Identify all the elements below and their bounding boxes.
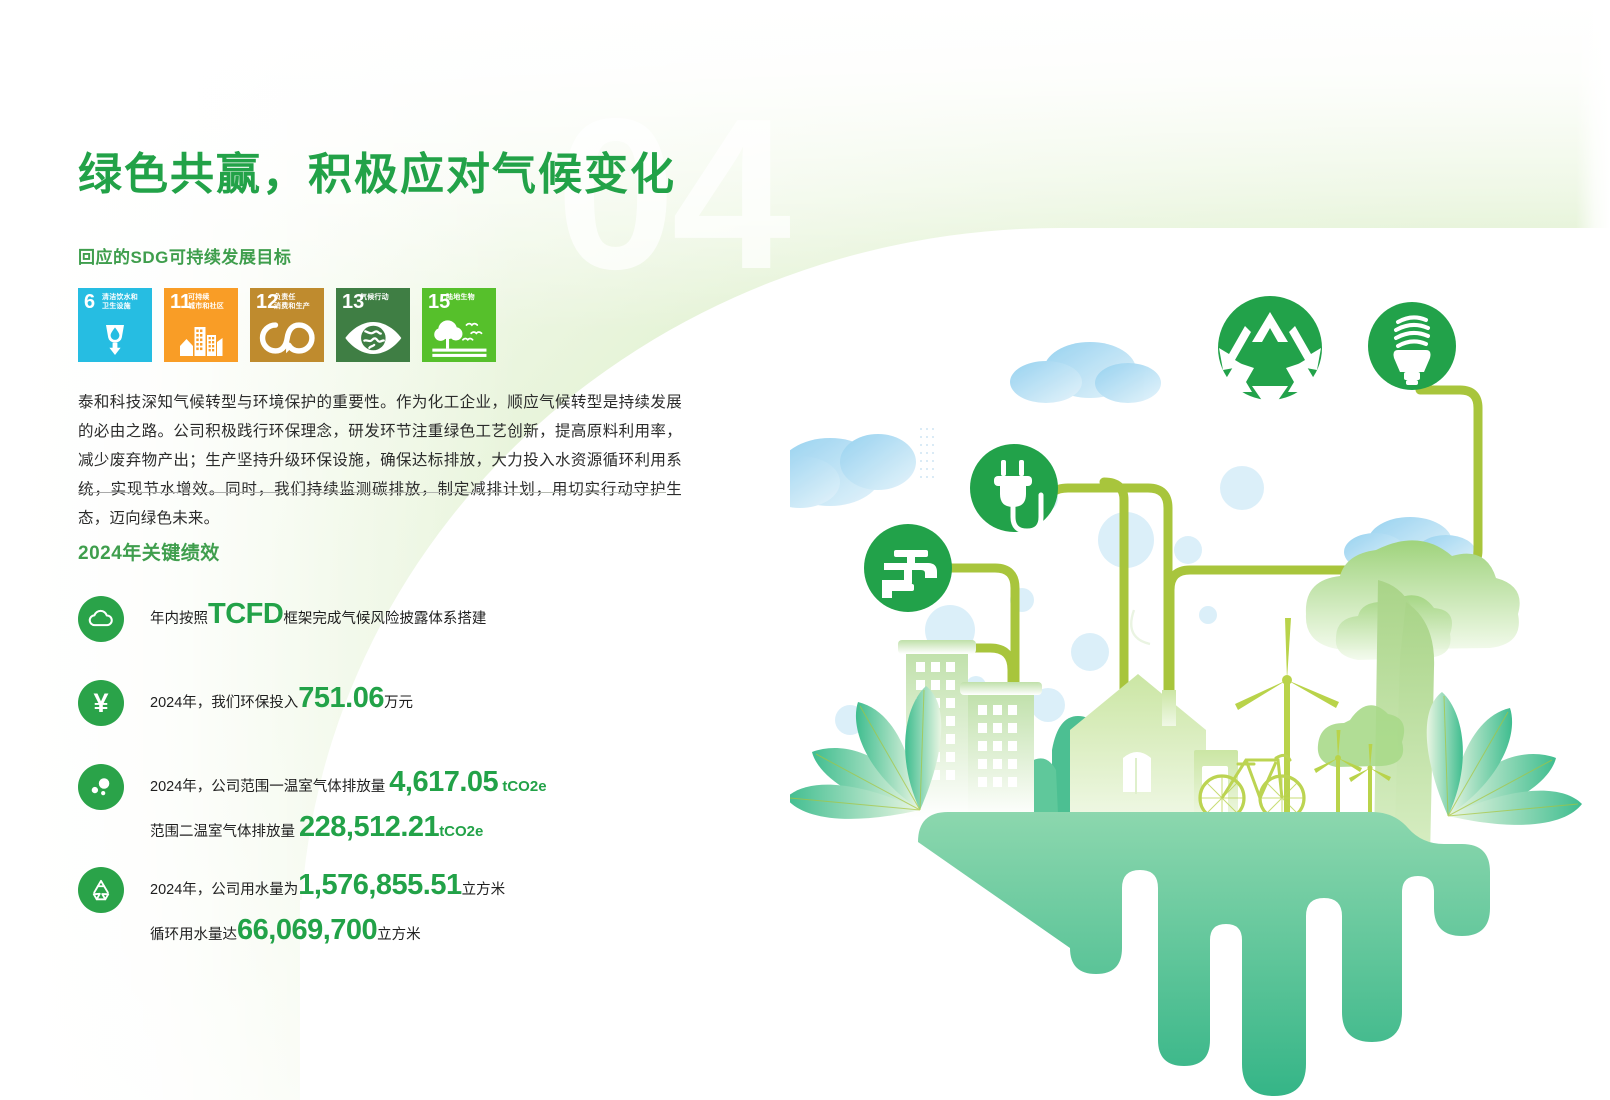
city-buildings-icon — [164, 318, 238, 358]
report-page: 04 绿色共赢，积极应对气候变化 回应的SDG可持续发展目标 6 清洁饮水和 卫… — [0, 0, 1610, 1100]
kpi-unit-text: tCO2e — [439, 823, 483, 840]
kpi-text-block: 2024年，我们环保投入751.06万元 — [150, 680, 638, 715]
kpi-prefix: 年内按照 — [150, 611, 208, 627]
kpi-unit: 立方米 — [462, 882, 506, 898]
cloud-icon — [78, 596, 124, 642]
kpi-item-ghg: 2024年，公司范围一温室气体排放量 4,617.05 tCO2e 范围二温室气… — [78, 764, 638, 845]
kpi-line: 2024年，公司用水量为1,576,855.51立方米 — [150, 869, 638, 902]
kpi-item-investment: ¥ 2024年，我们环保投入751.06万元 — [78, 680, 638, 742]
kpi-line: 范围二温室气体排放量 228,512.21tCO2e — [150, 811, 638, 844]
yen-icon: ¥ — [78, 680, 124, 726]
eco-illustration — [790, 250, 1610, 1100]
kpi-value: 4,617.05 — [389, 766, 498, 798]
kpi-prefix: 2024年，我们环保投入 — [150, 695, 298, 711]
badge-faucet[interactable] — [864, 524, 952, 612]
kpi-line: 2024年，我们环保投入751.06万元 — [150, 682, 638, 715]
badge-plug[interactable] — [970, 444, 1058, 532]
section-divider — [78, 492, 666, 493]
kpi-section-title: 2024年关键绩效 — [78, 538, 220, 565]
kpi-prefix: 循环用水量达 — [150, 927, 237, 943]
sdg-goal-list: 6 清洁饮水和 卫生设施 11 可持续 城市和社区 — [78, 288, 496, 362]
sdg-goal-11[interactable]: 11 可持续 城市和社区 — [164, 288, 238, 362]
kpi-line: 年内按照TCFD框架完成气候风险披露体系搭建 — [150, 598, 638, 631]
kpi-text-block: 2024年，公司用水量为1,576,855.51立方米 循环用水量达66,069… — [150, 867, 638, 948]
page-title: 绿色共赢，积极应对气候变化 — [78, 138, 676, 202]
kpi-value: 228,512.21 — [299, 811, 439, 843]
kpi-value: 66,069,700 — [237, 914, 377, 946]
sdg-goal-15[interactable]: 15 陆地生物 — [422, 288, 496, 362]
badge-recycle[interactable] — [1214, 296, 1322, 420]
sdg-goal-text: 清洁饮水和 卫生设施 — [102, 294, 149, 312]
sdg-goal-13[interactable]: 13 气候行动 — [336, 288, 410, 362]
house-shape — [1070, 674, 1238, 822]
sdg-goal-12[interactable]: 12 负责任 消费和生产 — [250, 288, 324, 362]
sdg-section-label: 回应的SDG可持续发展目标 — [78, 243, 291, 268]
sdg-goal-text: 可持续 城市和社区 — [188, 294, 235, 312]
kpi-value: 751.06 — [298, 682, 384, 714]
kpi-prefix: 范围二温室气体排放量 — [150, 824, 299, 840]
drip-band — [918, 812, 1490, 1096]
kpi-prefix: 2024年，公司范围一温室气体排放量 — [150, 779, 389, 795]
kpi-item-water: 2024年，公司用水量为1,576,855.51立方米 循环用水量达66,069… — [78, 867, 638, 948]
body-paragraph: 泰和科技深知气候转型与环境保护的重要性。作为化工企业，顺应气候转型是持续发展的必… — [78, 388, 682, 533]
kpi-item-tcfd: 年内按照TCFD框架完成气候风险披露体系搭建 — [78, 596, 638, 658]
kpi-unit-text: tCO2e — [502, 778, 546, 795]
kpi-text-block: 年内按照TCFD框架完成气候风险披露体系搭建 — [150, 596, 638, 631]
recycle-icon — [78, 867, 124, 913]
infinity-icon — [250, 318, 324, 358]
kpi-unit: 万元 — [384, 695, 413, 711]
tree-birds-icon — [422, 318, 496, 358]
kpi-suffix: 框架完成气候风险披露体系搭建 — [283, 611, 486, 627]
illustration-canvas — [790, 250, 1610, 1100]
kpi-text-block: 2024年，公司范围一温室气体排放量 4,617.05 tCO2e 范围二温室气… — [150, 764, 638, 845]
kpi-list: 年内按照TCFD框架完成气候风险披露体系搭建 ¥ 2024年，我们环保投入751… — [78, 596, 638, 969]
kpi-line: 循环用水量达66,069,700立方米 — [150, 914, 638, 947]
water-glass-icon — [78, 318, 152, 358]
kpi-unit: 立方米 — [377, 927, 421, 943]
tree-swing-shape — [1131, 610, 1150, 644]
kpi-value: TCFD — [208, 598, 283, 630]
kpi-line: 2024年，公司范围一温室气体排放量 4,617.05 tCO2e — [150, 766, 638, 799]
kpi-prefix: 2024年，公司用水量为 — [150, 882, 298, 898]
badge-lightbulb[interactable] — [1368, 302, 1456, 390]
eye-earth-icon — [336, 318, 410, 358]
sdg-goal-6[interactable]: 6 清洁饮水和 卫生设施 — [78, 288, 152, 362]
molecule-icon — [78, 764, 124, 810]
sdg-goal-text: 陆地生物 — [446, 294, 493, 303]
sdg-goal-number: 6 — [84, 292, 95, 312]
kpi-value: 1,576,855.51 — [298, 869, 461, 901]
sdg-goal-text: 负责任 消费和生产 — [274, 294, 321, 312]
sdg-goal-text: 气候行动 — [360, 294, 407, 303]
